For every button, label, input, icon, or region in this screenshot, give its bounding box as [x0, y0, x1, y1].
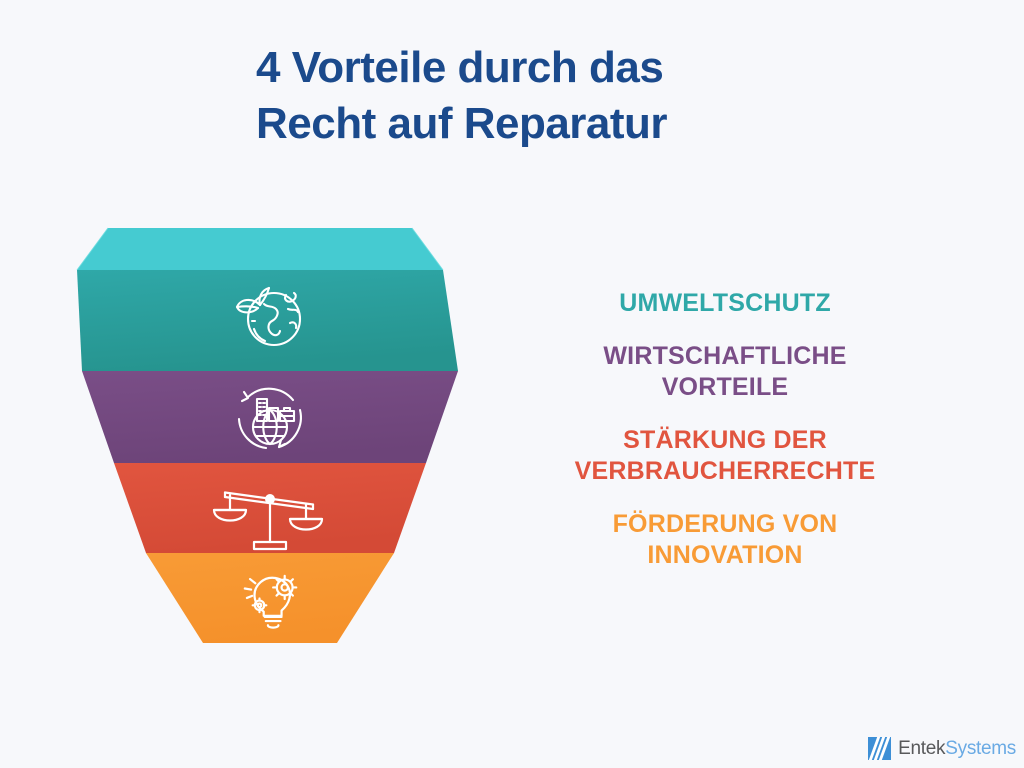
brand-logo[interactable]: Entek Systems [868, 737, 1016, 760]
title-line-1: 4 Vorteile durch das [256, 40, 876, 96]
label-innovation: FÖRDERUNG VONINNOVATION [500, 509, 950, 571]
label-umweltschutz: UMWELTSCHUTZ [500, 288, 950, 319]
title-line-2: Recht auf Reparatur [256, 96, 876, 152]
label-wirtschaftliche-vorteile-line-2: VORTEILE [500, 372, 950, 403]
infographic-slide: 4 Vorteile durch das Recht auf Reparatur [0, 0, 1024, 768]
label-verbraucherrechte: STÄRKUNG DERVERBRAUCHERRECHTE [500, 425, 950, 487]
logo-name-secondary: Systems [945, 738, 1016, 760]
benefit-labels: UMWELTSCHUTZ WIRTSCHAFTLICHEVORTEILE STÄ… [500, 288, 950, 571]
logo-name-primary: Entek [898, 738, 945, 760]
label-wirtschaftliche-vorteile: WIRTSCHAFTLICHEVORTEILE [500, 341, 950, 403]
funnel-layer-wirtschaftliche-vorteile[interactable] [82, 371, 458, 463]
label-verbraucherrechte-line-2: VERBRAUCHERRECHTE [500, 456, 950, 487]
funnel-diagram [60, 205, 480, 675]
label-innovation-line-1: FÖRDERUNG VON [500, 509, 950, 540]
label-umweltschutz-line-1: UMWELTSCHUTZ [500, 288, 950, 319]
funnel-face-innovation [146, 553, 394, 643]
three-slanted-bars-icon [868, 737, 891, 760]
label-wirtschaftliche-vorteile-line-1: WIRTSCHAFTLICHE [500, 341, 950, 372]
funnel-layer-innovation[interactable] [146, 553, 394, 643]
funnel-layer-umweltschutz[interactable] [77, 228, 458, 371]
page-title: 4 Vorteile durch das Recht auf Reparatur [256, 40, 876, 153]
funnel-rim-umweltschutz [77, 228, 443, 270]
label-innovation-line-2: INNOVATION [500, 540, 950, 571]
funnel-face-umweltschutz [77, 270, 458, 371]
funnel-layer-verbraucherrechte[interactable] [114, 463, 426, 553]
label-verbraucherrechte-line-1: STÄRKUNG DER [500, 425, 950, 456]
